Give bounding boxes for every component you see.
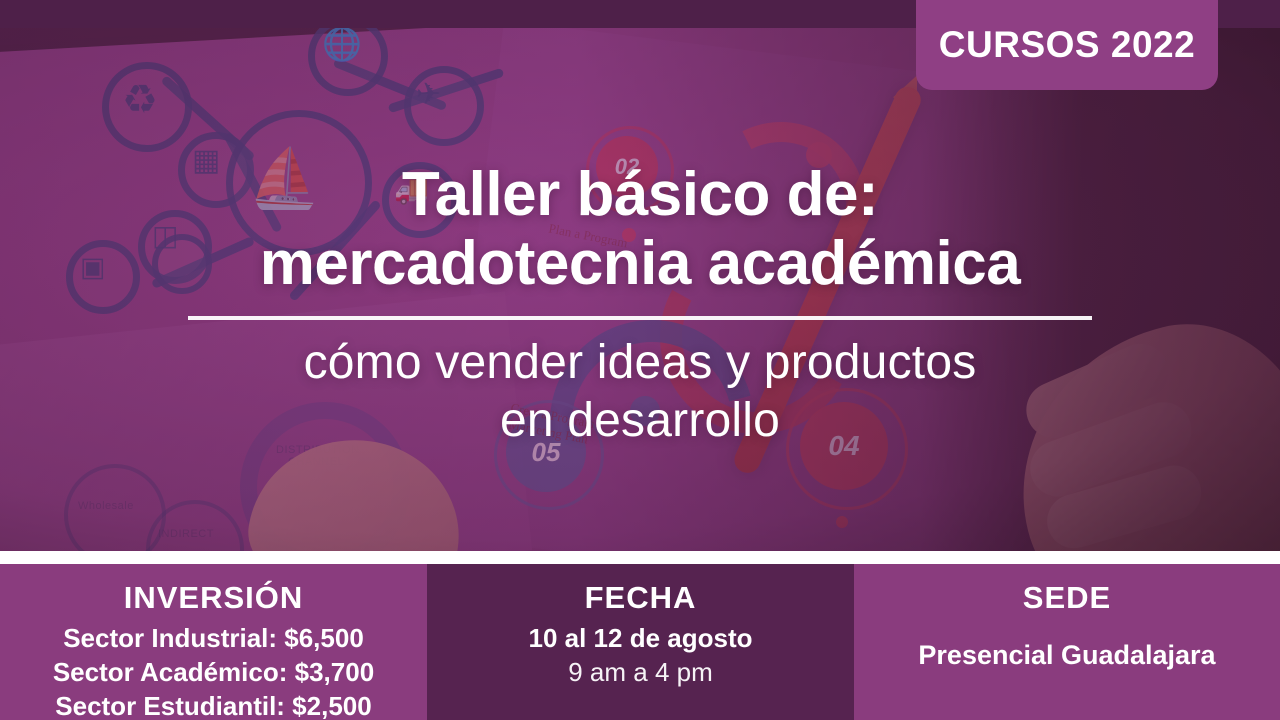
- price-line-academico: Sector Académico: $3,700: [53, 656, 374, 690]
- headline-block: Taller básico de: mercadotecnia académic…: [0, 160, 1280, 451]
- date-range: 10 al 12 de agosto: [529, 622, 753, 656]
- cursos-year-badge-label: CURSOS 2022: [939, 24, 1195, 66]
- price-line-industrial: Sector Industrial: $6,500: [63, 622, 364, 656]
- time-range: 9 am a 4 pm: [568, 656, 713, 690]
- cursos-year-badge: CURSOS 2022: [916, 0, 1218, 90]
- info-bar: INVERSIÓN Sector Industrial: $6,500 Sect…: [0, 564, 1280, 720]
- title-line-2: mercadotecnia académica: [0, 229, 1280, 298]
- info-column-inversion: INVERSIÓN Sector Industrial: $6,500 Sect…: [0, 564, 427, 720]
- hero-photo-area: ♻ ▦ ◫ ▣ ⛵ 🌐 ✈ 🚚 Wholesale INDIRECT DISTR…: [0, 0, 1280, 551]
- info-heading-fecha: FECHA: [585, 580, 697, 616]
- subtitle-line-1: cómo vender ideas y productos: [0, 334, 1280, 393]
- info-column-fecha: FECHA 10 al 12 de agosto 9 am a 4 pm: [427, 564, 854, 720]
- info-heading-sede: SEDE: [1023, 580, 1111, 616]
- venue-name: Presencial Guadalajara: [918, 638, 1215, 673]
- title-line-1: Taller básico de:: [0, 160, 1280, 229]
- info-heading-inversion: INVERSIÓN: [124, 580, 304, 616]
- course-flyer: ♻ ▦ ◫ ▣ ⛵ 🌐 ✈ 🚚 Wholesale INDIRECT DISTR…: [0, 0, 1280, 720]
- subtitle-line-2: en desarrollo: [0, 392, 1280, 451]
- price-line-estudiantil: Sector Estudiantil: $2,500: [55, 690, 371, 720]
- title-divider-rule: [188, 316, 1092, 320]
- white-divider-strip: [0, 551, 1280, 564]
- info-column-sede: SEDE Presencial Guadalajara: [854, 564, 1280, 720]
